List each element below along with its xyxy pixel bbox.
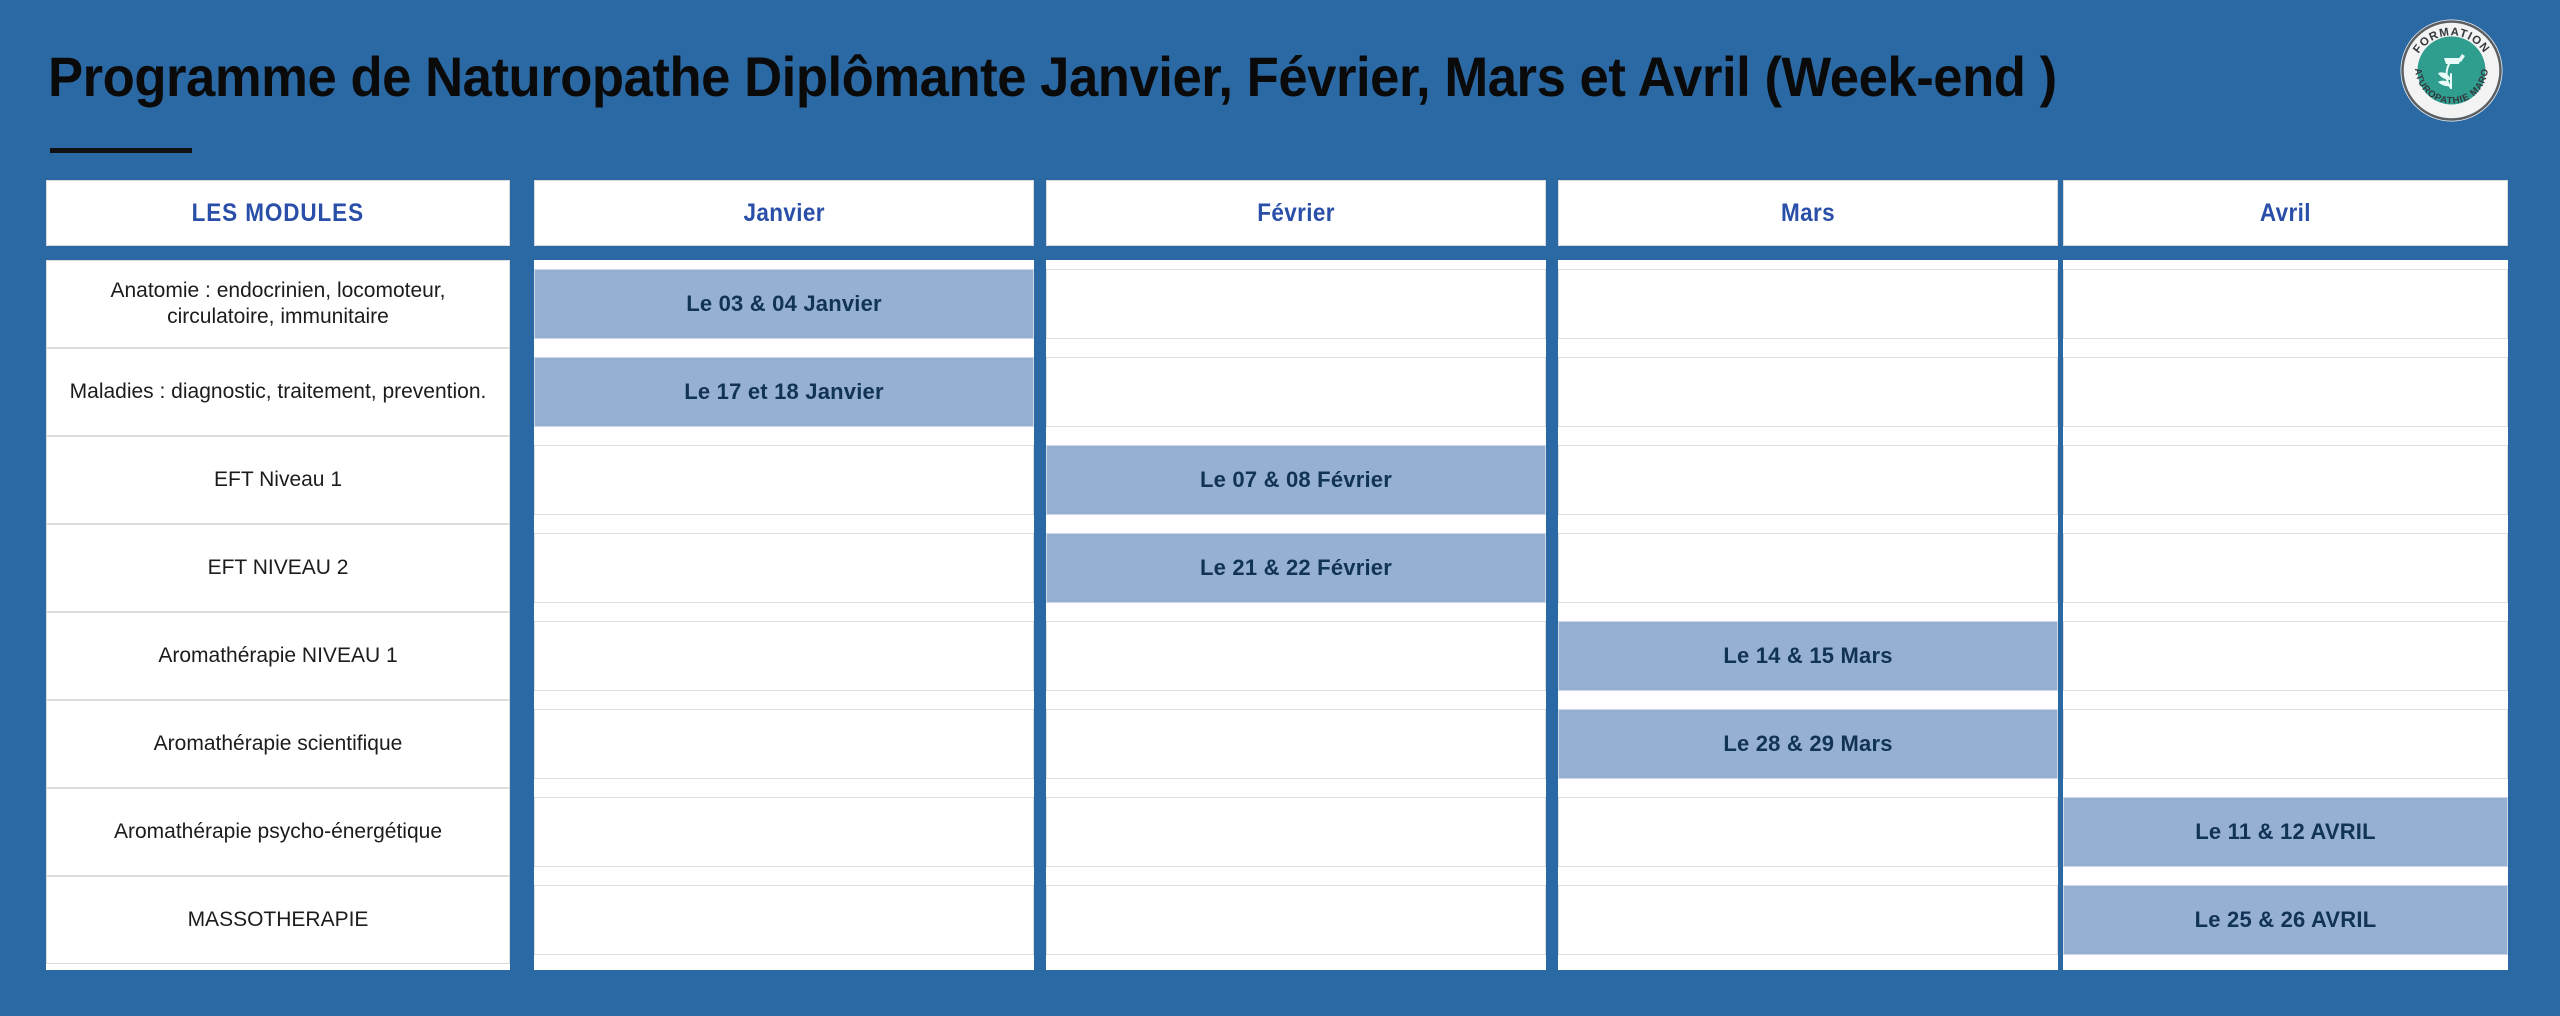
date-cell-avril[interactable] <box>2063 445 2508 515</box>
date-cell-fevrier[interactable] <box>1046 797 1546 867</box>
module-cell[interactable]: EFT Niveau 1 <box>46 436 510 524</box>
date-cell-mars[interactable] <box>1558 445 2058 515</box>
date-cell-avril[interactable] <box>2063 621 2508 691</box>
date-label: Le 07 & 08 Février <box>1200 467 1392 493</box>
module-label: Aromathérapie scientifique <box>154 731 403 757</box>
date-label: Le 11 & 12 AVRIL <box>2195 819 2376 845</box>
header-fevrier-label: Février <box>1257 199 1335 228</box>
date-cell-mars[interactable] <box>1558 533 2058 603</box>
date-cell-mars[interactable] <box>1558 885 2058 955</box>
date-cell-janvier[interactable] <box>534 797 1034 867</box>
table-header-row: LES MODULESJanvierFévrierMarsAvril <box>46 180 2508 246</box>
date-cell-janvier[interactable] <box>534 621 1034 691</box>
date-cell-fevrier[interactable] <box>1046 885 1546 955</box>
module-label: EFT Niveau 1 <box>214 467 342 493</box>
module-cell[interactable]: Maladies : diagnostic, traitement, preve… <box>46 348 510 436</box>
date-cell-mars[interactable]: Le 14 & 15 Mars <box>1558 621 2058 691</box>
date-cell-mars[interactable] <box>1558 269 2058 339</box>
schedule-table: LES MODULESJanvierFévrierMarsAvril Anato… <box>46 180 2508 970</box>
date-label: Le 25 & 26 AVRIL <box>2195 907 2377 933</box>
date-cell-avril[interactable] <box>2063 269 2508 339</box>
date-cell-janvier[interactable] <box>534 533 1034 603</box>
page-title: Programme de Naturopathe Diplômante Janv… <box>48 44 2057 109</box>
module-label: Anatomie : endocrinien, locomoteur, circ… <box>57 278 499 331</box>
date-label: Le 14 & 15 Mars <box>1723 643 1892 669</box>
date-label: Le 28 & 29 Mars <box>1723 731 1892 757</box>
date-cell-fevrier[interactable] <box>1046 269 1546 339</box>
date-label: Le 17 et 18 Janvier <box>684 379 883 405</box>
date-cell-fevrier[interactable]: Le 21 & 22 Février <box>1046 533 1546 603</box>
header-janvier-label: Janvier <box>743 199 824 228</box>
date-cell-avril[interactable]: Le 25 & 26 AVRIL <box>2063 885 2508 955</box>
date-cell-fevrier[interactable] <box>1046 709 1546 779</box>
module-label: EFT NIVEAU 2 <box>208 555 349 581</box>
date-cell-mars[interactable]: Le 28 & 29 Mars <box>1558 709 2058 779</box>
date-cell-janvier[interactable]: Le 17 et 18 Janvier <box>534 357 1034 427</box>
date-cell-mars[interactable] <box>1558 797 2058 867</box>
date-label: Le 21 & 22 Février <box>1200 555 1392 581</box>
brand-logo: FORMATION NATUROPATHIE MAROC <box>2399 18 2504 123</box>
module-label: Maladies : diagnostic, traitement, preve… <box>70 379 487 405</box>
module-cell[interactable]: Anatomie : endocrinien, locomoteur, circ… <box>46 260 510 348</box>
page-header: Programme de Naturopathe Diplômante Janv… <box>0 0 2560 180</box>
header-mars[interactable]: Mars <box>1558 180 2058 246</box>
module-label: MASSOTHERAPIE <box>188 907 369 933</box>
date-cell-janvier[interactable] <box>534 709 1034 779</box>
date-cell-avril[interactable]: Le 11 & 12 AVRIL <box>2063 797 2508 867</box>
date-cell-janvier[interactable] <box>534 885 1034 955</box>
module-cell[interactable]: Aromathérapie psycho-énergétique <box>46 788 510 876</box>
header-fevrier[interactable]: Février <box>1046 180 1546 246</box>
module-cell[interactable]: Aromathérapie scientifique <box>46 700 510 788</box>
date-cell-avril[interactable] <box>2063 709 2508 779</box>
header-mars-label: Mars <box>1781 199 1835 228</box>
date-cell-avril[interactable] <box>2063 357 2508 427</box>
logo-badge-icon: FORMATION NATUROPATHIE MAROC <box>2399 18 2504 123</box>
date-cell-mars[interactable] <box>1558 357 2058 427</box>
date-cell-janvier[interactable]: Le 03 & 04 Janvier <box>534 269 1034 339</box>
header-avril-label: Avril <box>2260 199 2311 228</box>
module-label: Aromathérapie psycho-énergétique <box>114 819 442 845</box>
date-cell-fevrier[interactable]: Le 07 & 08 Février <box>1046 445 1546 515</box>
date-cell-avril[interactable] <box>2063 533 2508 603</box>
title-underline <box>50 148 192 153</box>
module-cell[interactable]: Aromathérapie NIVEAU 1 <box>46 612 510 700</box>
module-cell[interactable]: MASSOTHERAPIE <box>46 876 510 964</box>
header-avril[interactable]: Avril <box>2063 180 2508 246</box>
date-cell-fevrier[interactable] <box>1046 357 1546 427</box>
module-label: Aromathérapie NIVEAU 1 <box>158 643 397 669</box>
date-cell-janvier[interactable] <box>534 445 1034 515</box>
table-body: Anatomie : endocrinien, locomoteur, circ… <box>46 260 2508 970</box>
header-janvier[interactable]: Janvier <box>534 180 1034 246</box>
date-label: Le 03 & 04 Janvier <box>686 291 882 317</box>
date-cell-fevrier[interactable] <box>1046 621 1546 691</box>
module-cell[interactable]: EFT NIVEAU 2 <box>46 524 510 612</box>
header-modules-label: LES MODULES <box>192 199 364 228</box>
header-modules[interactable]: LES MODULES <box>46 180 510 246</box>
